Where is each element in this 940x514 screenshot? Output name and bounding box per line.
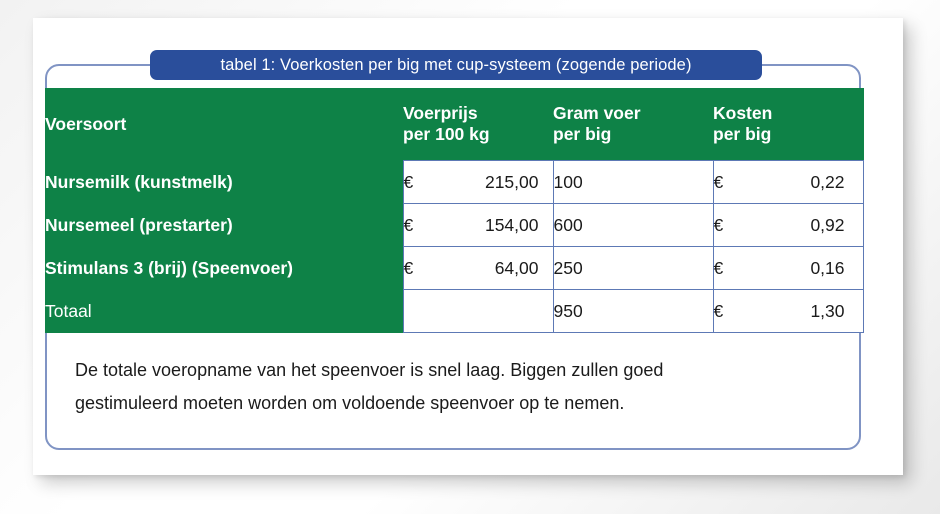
price-value: 215,00 bbox=[432, 172, 553, 193]
column-header-gramvoer-line1: Gram voer bbox=[553, 103, 641, 123]
currency-symbol: € bbox=[714, 301, 742, 322]
column-header-kosten-line1: Kosten bbox=[713, 103, 772, 123]
cell-cost-nursemilk: € 0,22 bbox=[713, 161, 863, 204]
table-row: Nursemilk (kunstmelk) € 215,00 100 € 0,2… bbox=[45, 161, 863, 204]
cost-value: 0,22 bbox=[742, 172, 863, 193]
column-header-kosten: Kosten per big bbox=[713, 88, 863, 161]
explanatory-paragraph: De totale voeropname van het speenvoer i… bbox=[45, 340, 861, 421]
column-header-voerprijs-line1: Voerprijs bbox=[403, 103, 478, 123]
cell-gram-nursemeel: 600 bbox=[553, 204, 713, 247]
table-row: Nursemeel (prestarter) € 154,00 600 € 0,… bbox=[45, 204, 863, 247]
price-value: 64,00 bbox=[432, 258, 553, 279]
row-label-stimulans: Stimulans 3 (brij) (Speenvoer) bbox=[45, 247, 403, 290]
currency-symbol: € bbox=[714, 172, 742, 193]
cell-cost-nursemeel: € 0,92 bbox=[713, 204, 863, 247]
table-caption-text: tabel 1: Voerkosten per big met cup-syst… bbox=[220, 56, 691, 75]
table-caption-badge: tabel 1: Voerkosten per big met cup-syst… bbox=[150, 50, 762, 80]
cell-price-stimulans: € 64,00 bbox=[403, 247, 553, 290]
cell-price-nursemeel: € 154,00 bbox=[403, 204, 553, 247]
column-header-gramvoer-line2: per big bbox=[553, 124, 713, 145]
currency-symbol: € bbox=[714, 215, 742, 236]
document-page: tabel 1: Voerkosten per big met cup-syst… bbox=[33, 18, 903, 475]
currency-symbol: € bbox=[404, 172, 432, 193]
cell-gram-nursemilk: 100 bbox=[553, 161, 713, 204]
cell-gram-stimulans: 250 bbox=[553, 247, 713, 290]
table-total-row: Totaal 950 € 1,30 bbox=[45, 290, 863, 333]
column-header-voerprijs-line2: per 100 kg bbox=[403, 124, 553, 145]
column-header-voerprijs: Voerprijs per 100 kg bbox=[403, 88, 553, 161]
cost-value: 0,92 bbox=[742, 215, 863, 236]
cell-cost-stimulans: € 0,16 bbox=[713, 247, 863, 290]
row-label-nursemilk: Nursemilk (kunstmelk) bbox=[45, 161, 403, 204]
cell-price-nursemilk: € 215,00 bbox=[403, 161, 553, 204]
column-header-gramvoer: Gram voer per big bbox=[553, 88, 713, 161]
currency-symbol: € bbox=[714, 258, 742, 279]
cost-value: 1,30 bbox=[742, 301, 863, 322]
column-header-kosten-line2: per big bbox=[713, 124, 863, 145]
currency-symbol: € bbox=[404, 215, 432, 236]
cell-price-totaal bbox=[403, 290, 553, 333]
table-header-row: Voersoort Voerprijs per 100 kg Gram voer… bbox=[45, 88, 863, 161]
cell-gram-totaal: 950 bbox=[553, 290, 713, 333]
row-label-nursemeel: Nursemeel (prestarter) bbox=[45, 204, 403, 247]
column-header-voersoort: Voersoort bbox=[45, 88, 403, 161]
currency-symbol: € bbox=[404, 258, 432, 279]
paragraph-line-1: De totale voeropname van het speenvoer i… bbox=[75, 354, 831, 387]
paragraph-line-2: gestimuleerd moeten worden om voldoende … bbox=[75, 387, 831, 420]
cost-value: 0,16 bbox=[742, 258, 863, 279]
row-label-totaal: Totaal bbox=[45, 290, 403, 333]
table-row: Stimulans 3 (brij) (Speenvoer) € 64,00 2… bbox=[45, 247, 863, 290]
price-value: 154,00 bbox=[432, 215, 553, 236]
cell-cost-totaal: € 1,30 bbox=[713, 290, 863, 333]
feed-cost-table: Voersoort Voerprijs per 100 kg Gram voer… bbox=[45, 88, 864, 333]
feed-cost-table-container: Voersoort Voerprijs per 100 kg Gram voer… bbox=[45, 88, 863, 333]
